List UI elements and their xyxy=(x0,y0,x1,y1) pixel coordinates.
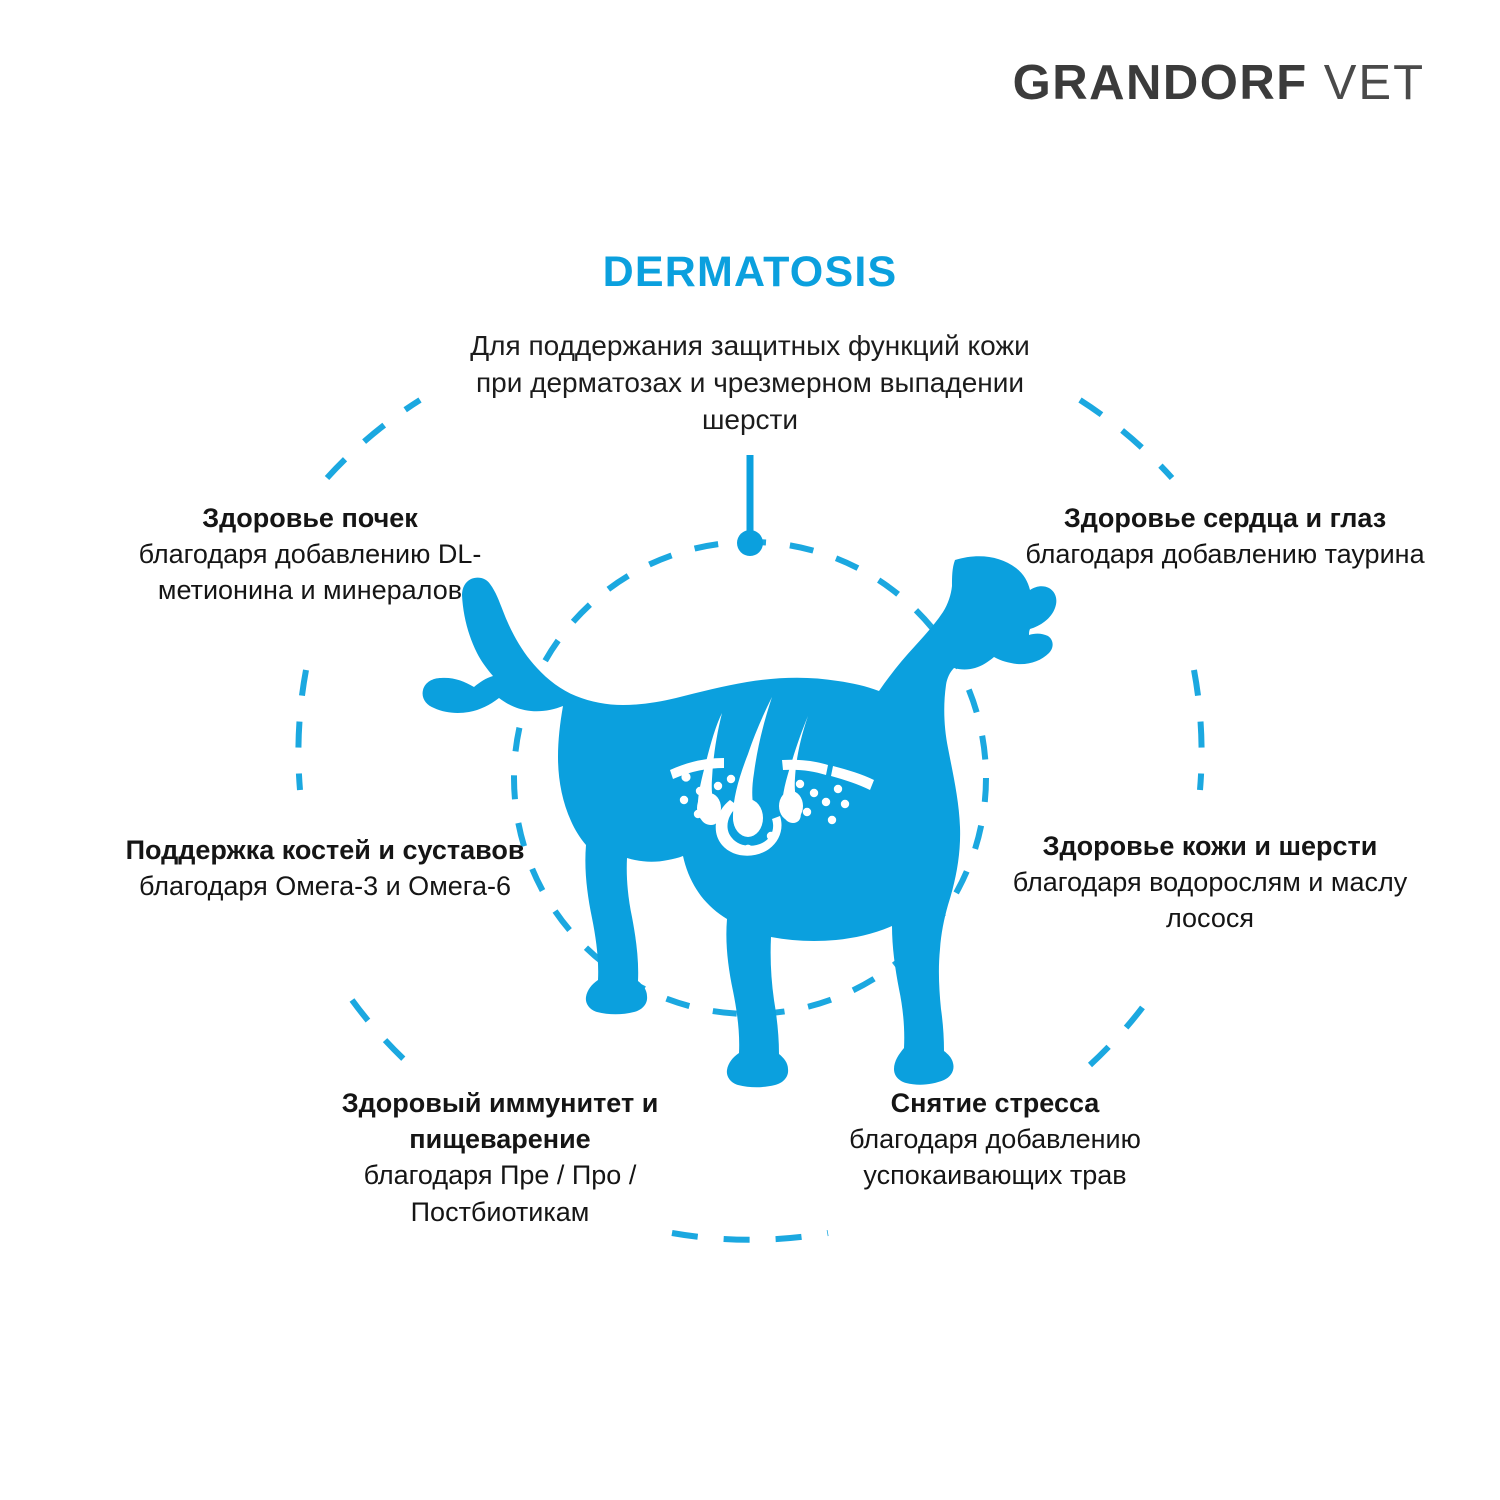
callout-kidney-health-body: благодаря добавлению DL-метионина и мине… xyxy=(139,539,482,605)
callout-stress-relief-body: благодаря добавлению успокаивающих трав xyxy=(849,1124,1141,1190)
callout-stress-relief-title: Снятие стресса xyxy=(891,1088,1100,1118)
callout-skin-coat-health-body: благодаря водорослям и маслу лосося xyxy=(1013,867,1407,933)
callout-immunity-digestion-body: благодаря Пре / Про / Постбиотикам xyxy=(364,1160,637,1226)
callout-heart-eye-health: Здоровье сердца и глаз благодаря добавле… xyxy=(1010,500,1440,572)
callout-heart-eye-health-title: Здоровье сердца и глаз xyxy=(1064,503,1386,533)
diagram-artwork xyxy=(0,0,1500,1500)
callout-kidney-health-title: Здоровье почек xyxy=(202,503,418,533)
callout-skin-coat-health-title: Здоровье кожи и шерсти xyxy=(1043,831,1378,861)
callout-bones-joints-support: Поддержка костей и суставов благодаря Ом… xyxy=(110,832,540,904)
callout-heart-eye-health-body: благодаря добавлению таурина xyxy=(1025,539,1424,569)
callout-immunity-digestion-title: Здоровый иммунитет и пищеварение xyxy=(342,1088,659,1154)
callout-bones-joints-support-title: Поддержка костей и суставов xyxy=(126,835,525,865)
callout-kidney-health: Здоровье почек благодаря добавлению DL-м… xyxy=(95,500,525,609)
infographic-canvas: GRANDORF VET DERMATOSIS Для поддержания … xyxy=(0,0,1500,1500)
callout-bones-joints-support-body: благодаря Омега-3 и Омега-6 xyxy=(139,871,511,901)
connector-dot xyxy=(737,530,763,556)
callout-stress-relief: Снятие стресса благодаря добавлению успо… xyxy=(790,1085,1200,1194)
callout-skin-coat-health: Здоровье кожи и шерсти благодаря водорос… xyxy=(995,828,1425,937)
callout-immunity-digestion: Здоровый иммунитет и пищеварение благода… xyxy=(275,1085,725,1230)
